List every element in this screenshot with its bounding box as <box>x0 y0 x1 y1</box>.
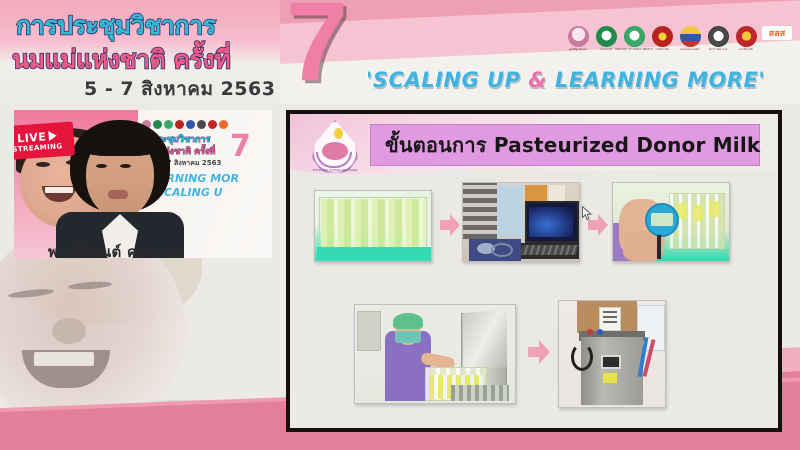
tagline-ampersand: & <box>528 68 547 92</box>
pediatric-society-logo: ชมรมกุมารแพทย์ <box>678 26 702 56</box>
note-line <box>603 321 617 323</box>
speaker-name-label: พว.สิริมนต์ คงถาวร <box>48 240 180 264</box>
posted-instruction-sheet <box>599 307 621 331</box>
play-icon <box>48 131 57 142</box>
mouse-pointer <box>582 206 593 221</box>
poster-logo-8 <box>219 120 228 129</box>
logo-caption: ชมรมกุมารแพทย์ <box>680 48 699 51</box>
poster-edition-number: 7 <box>230 132 251 162</box>
speaker-webcam-feed: การประชุมวิชาการ นมแม่แห่งชาติ ครั้งที่ … <box>14 110 272 258</box>
wall-cabinet <box>357 311 381 351</box>
photo-pasteurizer-machine <box>558 300 666 408</box>
logo-mark <box>652 26 673 47</box>
nurse-surgical-cap <box>393 313 423 329</box>
edition-number: 7 <box>286 0 348 98</box>
presentation-screen: 7 การประชุมวิชาการ นมแม่แห่งชาติ ครั้งที… <box>0 0 800 450</box>
speaker-eye-right <box>120 164 131 168</box>
slide-title: ขั้นตอนการ Pasteurized Donor Milk <box>371 129 760 161</box>
royal-patronage-logo: มูลนิธิศูนย์นมแม่ <box>566 26 590 56</box>
tagline-suffix: LEARNING MORE' <box>547 68 765 92</box>
logo-caption: ราชวิทยาลัย <box>655 48 669 51</box>
arrow-3 <box>528 340 550 364</box>
sponsor-logo-strip: มูลนิธิศูนย์นมแม่ กรมอนามัย MINISTRY OF … <box>566 26 792 56</box>
photo-milk-storage-shelves <box>314 190 432 262</box>
department-health-logo: MINISTRY OF PUBLIC HEALTH <box>622 26 646 56</box>
logo-mark: สสส <box>762 26 792 40</box>
logo-caption: THAILAND HUMAN MILK BANK <box>306 168 364 172</box>
logo-caption: MINISTRY OF PUBLIC HEALTH <box>615 48 652 51</box>
logo-mark <box>736 26 757 47</box>
ministry-health-logo: กรมอนามัย <box>594 26 618 56</box>
shelf-base <box>317 247 431 259</box>
power-cord <box>571 343 593 371</box>
logo-caption: มหาวิทยาลัย <box>739 48 753 51</box>
thailand-human-milk-bank-logo: THAILAND HUMAN MILK BANK <box>304 118 366 180</box>
conference-tagline: 'SCALING UP & LEARNING MORE' <box>366 68 765 92</box>
logo-mark <box>624 26 645 47</box>
poster-logo-7 <box>208 120 217 129</box>
machine-knob-blue <box>597 329 603 335</box>
cable-coil <box>491 243 513 257</box>
photo-laptop-record-station <box>462 182 580 262</box>
speaker-bangs <box>82 130 158 156</box>
milk-bottle <box>693 205 703 221</box>
nursing-council-logo: สภาการพยาบาล <box>706 26 730 56</box>
machine-knob-red <box>587 329 593 335</box>
photo-digital-thermometer-timer <box>612 182 730 262</box>
logo-mark <box>708 26 729 47</box>
logo-caption: มูลนิธิศูนย์นมแม่ <box>569 48 587 51</box>
conference-header-banner: 7 การประชุมวิชาการ นมแม่แห่งชาติ ครั้งที… <box>0 0 800 104</box>
laptop-keyboard <box>519 245 578 255</box>
arrow-1 <box>440 214 460 236</box>
logo-mark <box>568 26 589 47</box>
machine-warning-label <box>603 373 617 383</box>
photo-nurse-loading-bottles <box>354 304 516 404</box>
machine-rack <box>451 385 509 401</box>
nurse-face-mask <box>395 331 421 343</box>
logo-mark <box>680 26 701 47</box>
tagline-prefix: 'SCALING UP <box>366 68 528 92</box>
baby-teeth <box>34 352 94 366</box>
note-line <box>603 316 617 318</box>
machine-control-display <box>601 355 621 369</box>
shelf-frame <box>319 197 427 249</box>
logo-mark <box>596 26 617 47</box>
speaker-portrait <box>62 120 178 258</box>
royal-college-logo: ราชวิทยาลัย <box>650 26 674 56</box>
poster-logo-5 <box>186 120 195 129</box>
milk-bottle <box>709 201 719 217</box>
speaker-eye-left <box>96 164 107 168</box>
speaker-mouth <box>108 190 128 199</box>
poster-logo-6 <box>197 120 206 129</box>
slide-title-box: ขั้นตอนการ Pasteurized Donor Milk <box>370 124 760 166</box>
poster-child-eye-left <box>36 162 50 167</box>
laptop-screen-content <box>529 207 573 237</box>
logo-caption: สภาการพยาบาล <box>709 48 728 51</box>
thaihealth-sss-logo: สสส <box>762 26 792 56</box>
slide-panel: THAILAND HUMAN MILK BANK ขั้นตอนการ Past… <box>286 110 782 432</box>
pasteurizer-open-lid <box>463 309 507 372</box>
timer-display <box>651 213 673 226</box>
wall-blinds <box>463 183 497 239</box>
live-streaming-badge: LIVE STREAMING <box>14 121 75 160</box>
temperature-probe <box>657 235 661 259</box>
university-logo: มหาวิทยาลัย <box>734 26 758 56</box>
conference-dates: 5 - 7 สิงหาคม 2563 <box>84 74 275 104</box>
milk-droplet-highlight <box>334 128 343 139</box>
wall-board <box>497 185 523 237</box>
note-line <box>603 311 617 313</box>
baby-nose <box>52 318 86 344</box>
logo-caption: กรมอนามัย <box>600 48 613 51</box>
